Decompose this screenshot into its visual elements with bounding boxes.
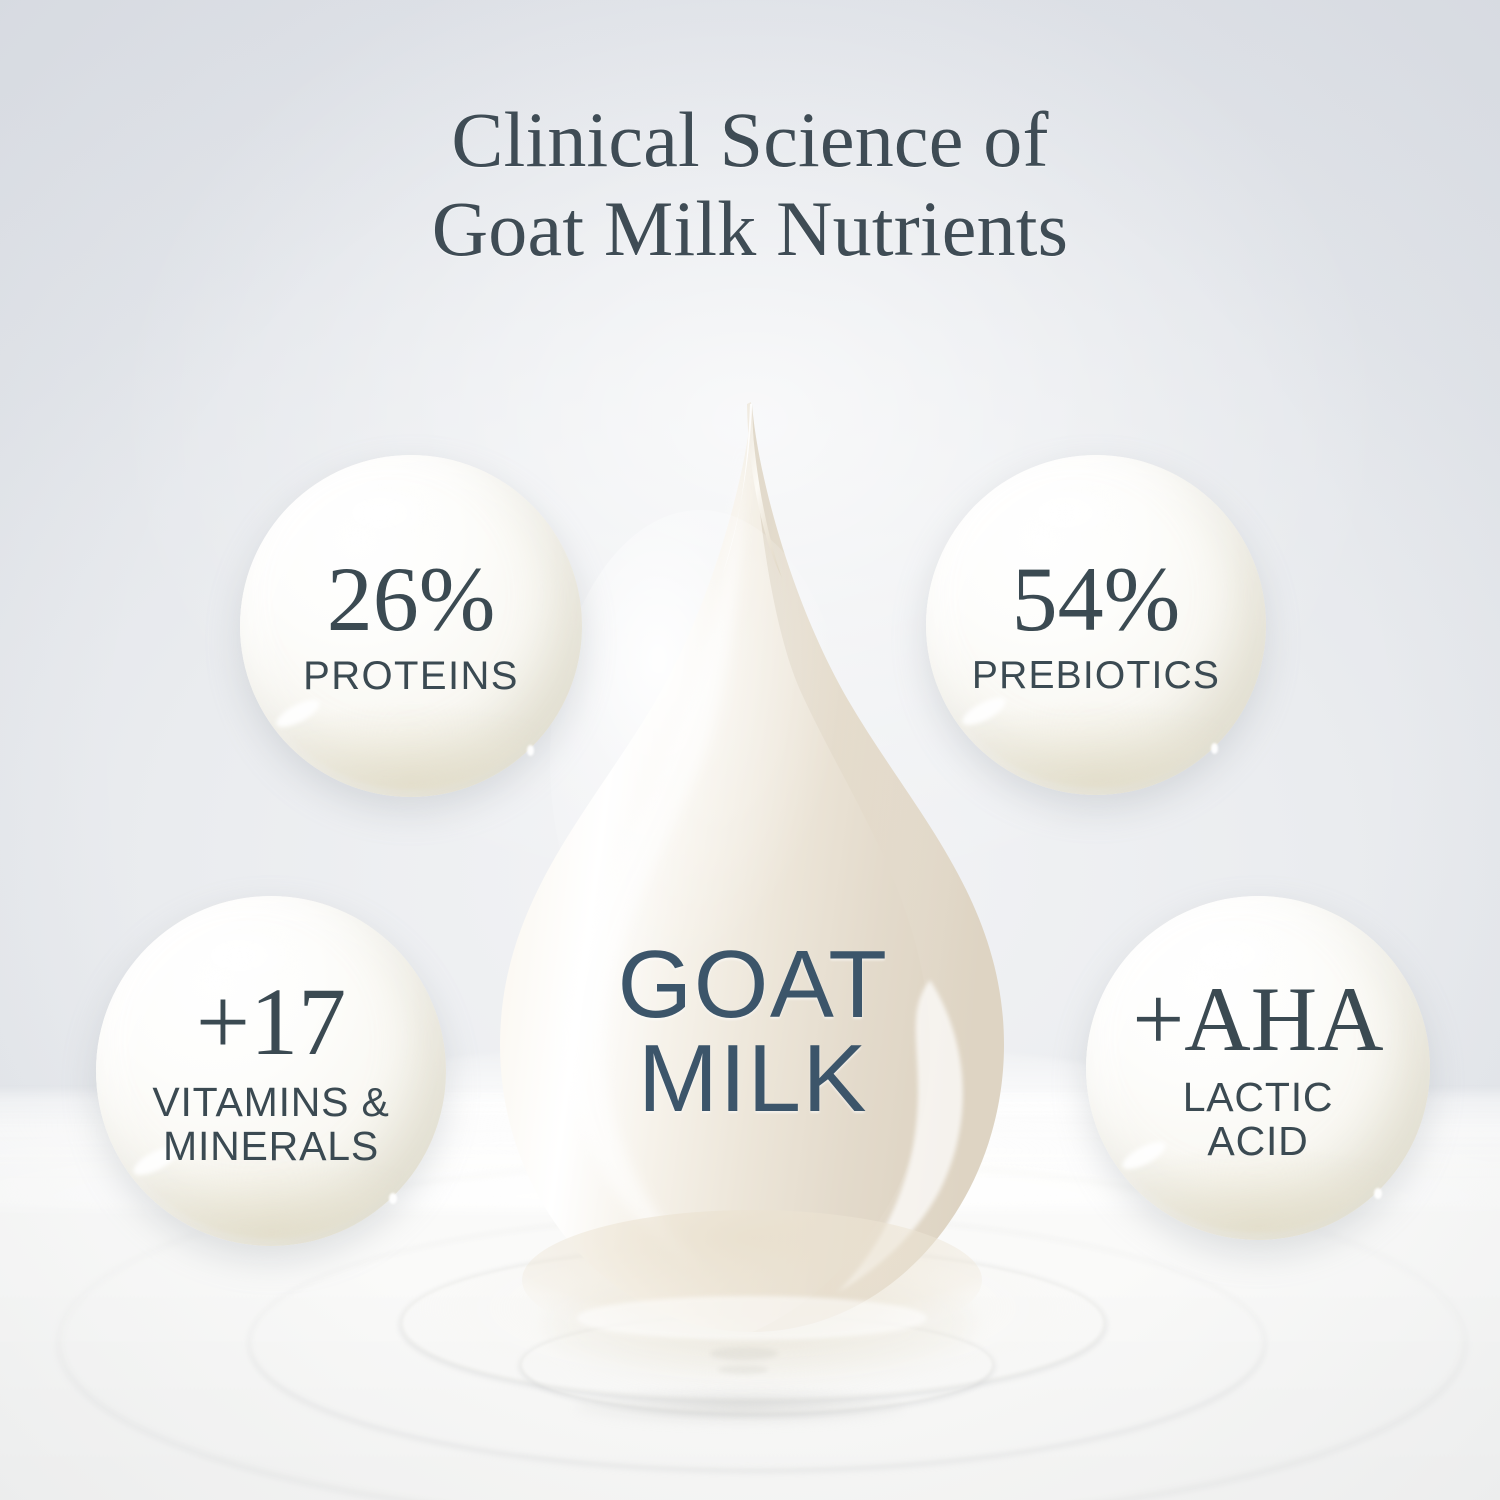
stat-label-prebiotics: PREBIOTICS	[895, 655, 1296, 697]
stat-bubble-prebiotics: 54% PREBIOTICS	[926, 455, 1266, 795]
stat-content: 26% PROTEINS	[209, 553, 613, 698]
product-name-line-1: GOAT	[500, 938, 1006, 1032]
stat-bubble-aha: +AHA LACTIC ACID	[1086, 896, 1430, 1240]
bubble-highlight-streak	[959, 693, 1009, 730]
stat-bubble-proteins: 26% PROTEINS	[240, 455, 582, 797]
stat-value-prebiotics: 54%	[895, 553, 1296, 645]
stat-value-aha: +AHA	[1055, 973, 1461, 1065]
stat-label-proteins: PROTEINS	[209, 655, 613, 698]
stat-content: 54% PREBIOTICS	[895, 553, 1296, 697]
stat-value-proteins: 26%	[209, 553, 613, 645]
stat-value-vitamins: +17	[65, 974, 478, 1070]
page-title: Clinical Science of Goat Milk Nutrients	[0, 96, 1500, 274]
product-infographic: Clinical Science of Goat Milk Nutrients	[0, 0, 1500, 1500]
stat-label-aha: LACTIC ACID	[1055, 1075, 1461, 1164]
bubble-highlight-streak	[273, 694, 323, 732]
page-title-line-2: Goat Milk Nutrients	[0, 185, 1500, 274]
droplet-contact-shadow	[545, 1270, 975, 1380]
stat-label-vitamins: VITAMINS & MINERALS	[65, 1080, 478, 1169]
stat-bubble-vitamins: +17 VITAMINS & MINERALS	[96, 896, 446, 1246]
page-title-line-1: Clinical Science of	[0, 96, 1500, 185]
stat-content: +AHA LACTIC ACID	[1055, 973, 1461, 1164]
product-name-line-2: MILK	[500, 1032, 1006, 1126]
product-name: GOAT MILK	[500, 938, 1006, 1126]
stat-content: +17 VITAMINS & MINERALS	[65, 974, 478, 1169]
